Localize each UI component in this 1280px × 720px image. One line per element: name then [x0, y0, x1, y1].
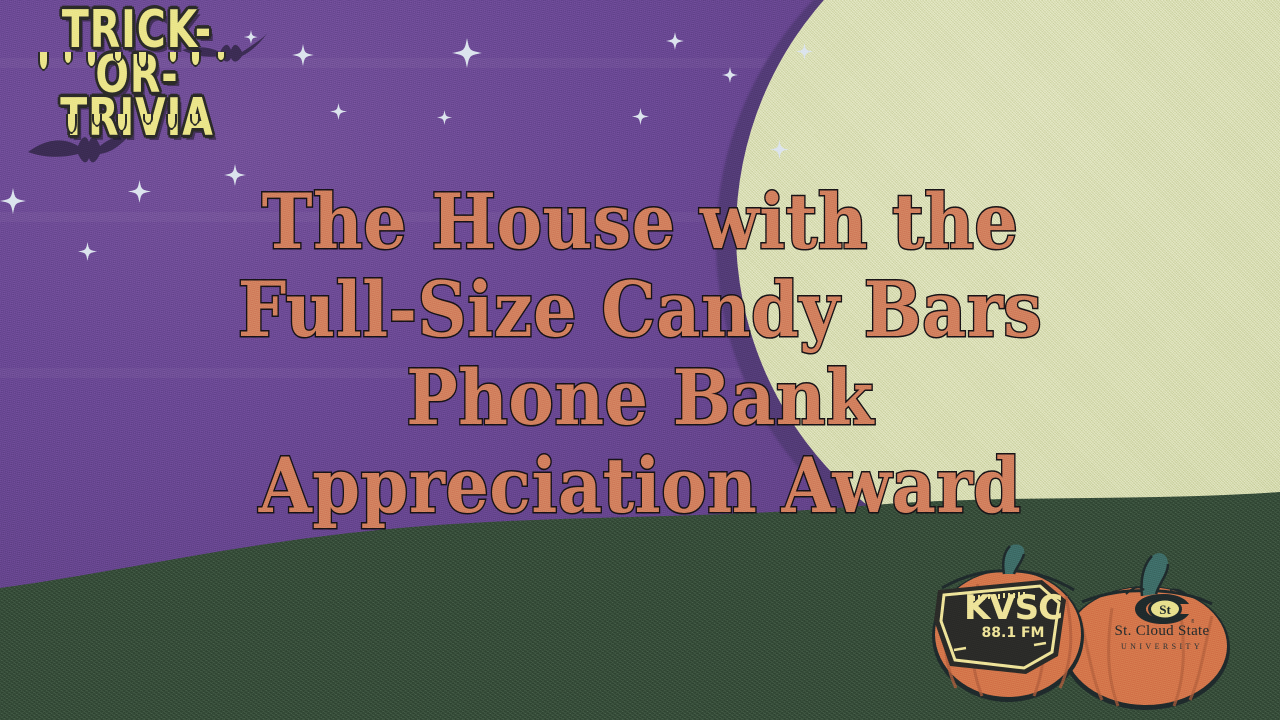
kvsc-pumpkin	[932, 544, 1084, 702]
logo-line-1: TRICK-OR-	[29, 8, 245, 98]
title-line-2: Full-Size Candy Bars	[64, 266, 1216, 354]
title-line-1: The House with the	[64, 178, 1216, 266]
logo-line-2: TRIVIA	[29, 96, 245, 141]
title-line-4: Appreciation Award	[64, 442, 1216, 530]
scsu-pumpkin	[1062, 553, 1230, 710]
trick-or-trivia-logo: TRICK-OR- TRIVIA	[22, 8, 252, 133]
award-title: The House with the Full-Size Candy Bars …	[0, 178, 1280, 531]
pumpkin-logos	[930, 538, 1230, 720]
trivia-slide: TRICK-OR- TRIVIA The House with the Full…	[0, 0, 1280, 720]
title-line-3: Phone Bank	[64, 354, 1216, 442]
